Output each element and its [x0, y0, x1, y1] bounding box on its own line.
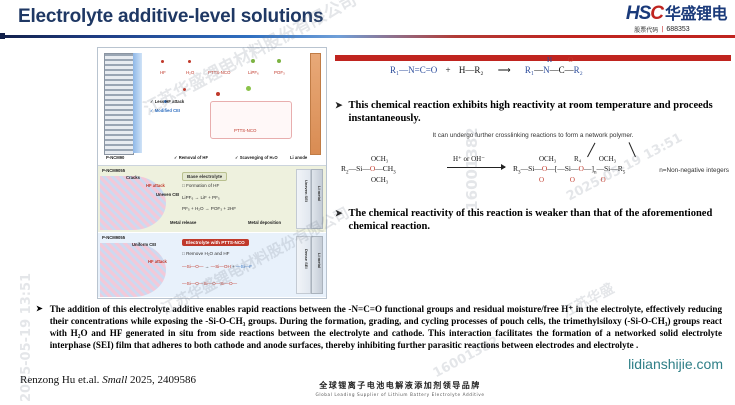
panel3-scheme-a: —Si—O— → —Si—OH + —Si—F [182, 264, 252, 269]
molecule-dot [161, 60, 164, 63]
species-pof3: POF₃ [274, 70, 285, 75]
rx1-product-o: O [568, 56, 573, 64]
footer-tagline-cn: 全球锂离子电池电解液添加剂领导品牌 [280, 380, 520, 391]
rx2-pointer-line [629, 142, 636, 157]
page-title: Electrolyte additive-level solutions [18, 6, 323, 28]
footer-tagline: 全球锂离子电池电解液添加剂领导品牌 Global Leading Supplie… [280, 380, 520, 397]
panel3-material-label: P-NCM9055 [102, 235, 125, 240]
bullet-1-text: This chemical reaction exhibits high rea… [349, 99, 731, 126]
check-modified-cei: ✓ Modified CEI [150, 108, 180, 113]
anode-label: Li anode [290, 155, 307, 160]
panel2-eq1: LiPF₆ → LiF + PF₅ [182, 195, 220, 200]
ann-uneven-cei: Uneven CEI [156, 192, 179, 197]
bullet-2-text: The chemical reactivity of this reaction… [349, 207, 731, 234]
highlight-box-label: PTTS-NCO [234, 128, 256, 133]
ann-cracks: Cracks [126, 175, 140, 180]
tag-additive-electrolyte: Electrolyte with PTTS-NCO [182, 239, 249, 246]
panel2-material-label: P-NCM9055 [102, 168, 125, 173]
mechanism-figure: HF H₂O PTTS-NCO LiPF₆ POF₃ PTTS-NCO ✓ Le… [97, 47, 327, 299]
side-label-li-metal: Li metal [317, 253, 322, 268]
website-link[interactable]: lidianshijie.com [628, 356, 723, 372]
rx1-product-h: H [547, 56, 552, 64]
ann-uniform-cei: Uniform CEI [132, 242, 156, 247]
bullet-arrow-icon: ➤ [335, 99, 343, 111]
molecule-dot [251, 59, 255, 63]
side-label-dense-sei: Dense SEI [304, 249, 309, 269]
body-paragraph: ➤ The addition of this electrolyte addit… [36, 303, 722, 351]
ann-metal-release: Metal release [170, 220, 196, 225]
logo-brand-cn: 华盛锂电 [665, 6, 727, 22]
rx2-right-structure: OCH₃ R₄ OCH₃ R3—Si—O—[—Si—O—]n—Si—R5 O O… [513, 155, 625, 185]
molecule-dot [216, 92, 220, 96]
molecule-dot [246, 86, 251, 91]
molecule-dot [188, 60, 191, 63]
right-content-column: R₁—N=C=O + H—R₂ ⟶ R₁—N—C—R₂ O H ➤ This c… [335, 55, 731, 234]
panel2-line1: □ Formation of HF [182, 183, 219, 188]
lithium-anode [310, 53, 321, 155]
cathode-label: P-NCM90 [106, 155, 124, 160]
citation-journal: Small [102, 374, 127, 386]
species-hf: HF [160, 70, 166, 75]
rx1-product-r1: R₁ [525, 65, 534, 75]
figure-panel-base-electrolyte: P-NCM9055 Cracks HF attack Uneven CEI Ba… [98, 166, 326, 232]
cathode-electrode [104, 53, 134, 155]
highlight-box-ptts [210, 101, 292, 139]
cathode-particle [100, 243, 166, 297]
check-scavenging-h2o: ✓ Scavenging of H₂O [235, 155, 278, 160]
species-h2o: H₂O [186, 70, 194, 75]
logo-stock-code: 688353 [666, 26, 689, 33]
check-removal-hf: ✓ Removal of HF [174, 155, 208, 160]
crosslinking-note: It can undergo further crosslinking reac… [335, 132, 731, 139]
rx1-left: R₁—N=C=O [390, 65, 437, 75]
header-divider [0, 35, 735, 38]
panel3-line1: □ Remove H₂O and HF [182, 251, 229, 256]
rx2-arrow [447, 167, 505, 168]
citation: Renzong Hu et.al. Small 2025, 2409586 [20, 374, 196, 386]
divider-cap-left [0, 33, 5, 39]
species-lipf6: LiPF₆ [248, 70, 259, 75]
rx2-legend: n=Non-negative integers [659, 167, 729, 174]
separator-layer [133, 53, 142, 153]
rx1-product-r2: R₂ [574, 65, 583, 75]
bullet-arrow-icon: ➤ [335, 207, 343, 219]
check-less-hf: ✓ Less HF attack [150, 99, 184, 104]
paragraph-arrow-icon: ➤ [36, 303, 43, 314]
body-paragraph-text: The addition of this electrolyte additiv… [50, 303, 722, 351]
ann-metal-deposition: Metal deposition [248, 220, 281, 225]
bullet-item-1: ➤ This chemical reaction exhibits high r… [335, 99, 731, 126]
figure-panel-additive-electrolyte: P-NCM9055 Uniform CEI HF attack Electrol… [98, 233, 326, 297]
rx1-plus: + [446, 65, 451, 75]
citation-rest: 2025, 2409586 [130, 374, 196, 386]
tag-base-electrolyte: Base electrolyte [182, 172, 227, 181]
rx2-condition: H⁺ or OH⁻ [453, 155, 485, 163]
slide-root: Electrolyte additive-level solutions HSC… [0, 0, 735, 405]
ann-hf-attack: HF attack [148, 259, 167, 264]
species-ptts-nco: PTTS-NCO [208, 70, 230, 75]
bullet-item-2: ➤ The chemical reactivity of this reacti… [335, 207, 731, 234]
rx1-arrow: ⟶ [498, 65, 511, 75]
logo-stock-label: 股票代码 [634, 25, 658, 34]
panel3-scheme-b: —Si—O—Si—O—Si—O— [182, 281, 237, 286]
panel2-eq2: PF₅ + H₂O → POF₃ + 2HF [182, 206, 236, 211]
slide-header: Electrolyte additive-level solutions HSC… [0, 0, 735, 45]
ann-hf-attack: HF attack [146, 183, 165, 188]
figure-panel-top: HF H₂O PTTS-NCO LiPF₆ POF₃ PTTS-NCO ✓ Le… [98, 48, 326, 166]
molecule-dot [277, 59, 281, 63]
logo-mark-text: HSC [626, 4, 663, 23]
logo-separator: | [661, 26, 663, 33]
side-label-li-metal: Li metal [317, 186, 322, 201]
company-logo: HSC 华盛锂电 股票代码 | 688353 [597, 4, 727, 34]
rx2-left-structure: OCH₃ R2—Si—O—CH3 OCH₃ [341, 155, 396, 185]
reaction-scheme-2: OCH₃ R2—Si—O—CH3 OCH₃ H⁺ or OH⁻ OCH₃ R₄ … [335, 141, 731, 203]
footer-tagline-en: Global Leading Supplier of Lithium Batte… [280, 392, 520, 397]
reaction-scheme-1: R₁—N=C=O + H—R₂ ⟶ R₁—N—C—R₂ O H [335, 55, 731, 97]
citation-authors: Renzong Hu et.al. [20, 374, 99, 386]
side-label-uneven-sei: Uneven SEI [304, 180, 309, 202]
rx1-middle: H—R₂ [459, 65, 484, 75]
molecule-dot [183, 88, 186, 91]
